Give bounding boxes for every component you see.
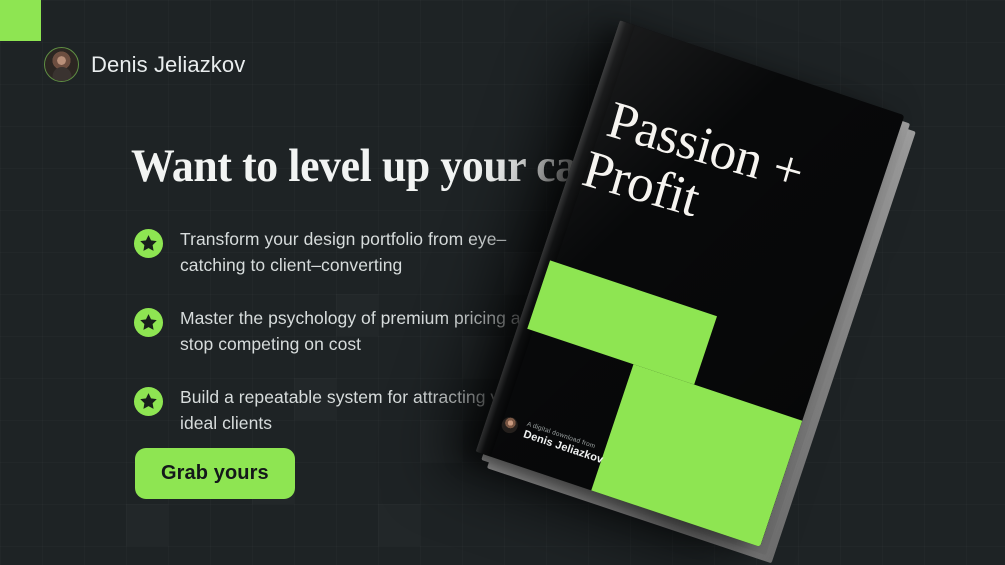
book-mockup: Passion + Profit A digital download from… (500, 10, 1005, 565)
benefit-list: Transform your design portfolio from eye… (133, 226, 553, 463)
page-title: Want to level up your career? (131, 142, 673, 191)
author-name: Denis Jeliazkov (91, 52, 245, 78)
star-badge-icon (133, 228, 164, 259)
grab-yours-button[interactable]: Grab yours (135, 448, 295, 499)
star-badge-icon (133, 307, 164, 338)
star-badge-icon (133, 386, 164, 417)
author-chip: Denis Jeliazkov (44, 47, 245, 82)
list-item: Transform your design portfolio from eye… (133, 226, 553, 278)
list-item: Build a repeatable system for attracting… (133, 384, 553, 436)
corner-accent-square (0, 0, 41, 41)
cover-shape-square (581, 364, 802, 547)
avatar (44, 47, 79, 82)
promo-slide: Denis Jeliazkov Want to level up your ca… (0, 0, 1005, 565)
grid-cell (378, 504, 420, 546)
grid-cell (126, 504, 168, 546)
list-item: Master the psychology of premium pricing… (133, 305, 553, 357)
list-item-label: Build a repeatable system for attracting… (180, 384, 553, 436)
list-item-label: Transform your design portfolio from eye… (180, 226, 553, 278)
list-item-label: Master the psychology of premium pricing… (180, 305, 553, 357)
cover-shape-bar (527, 260, 717, 384)
